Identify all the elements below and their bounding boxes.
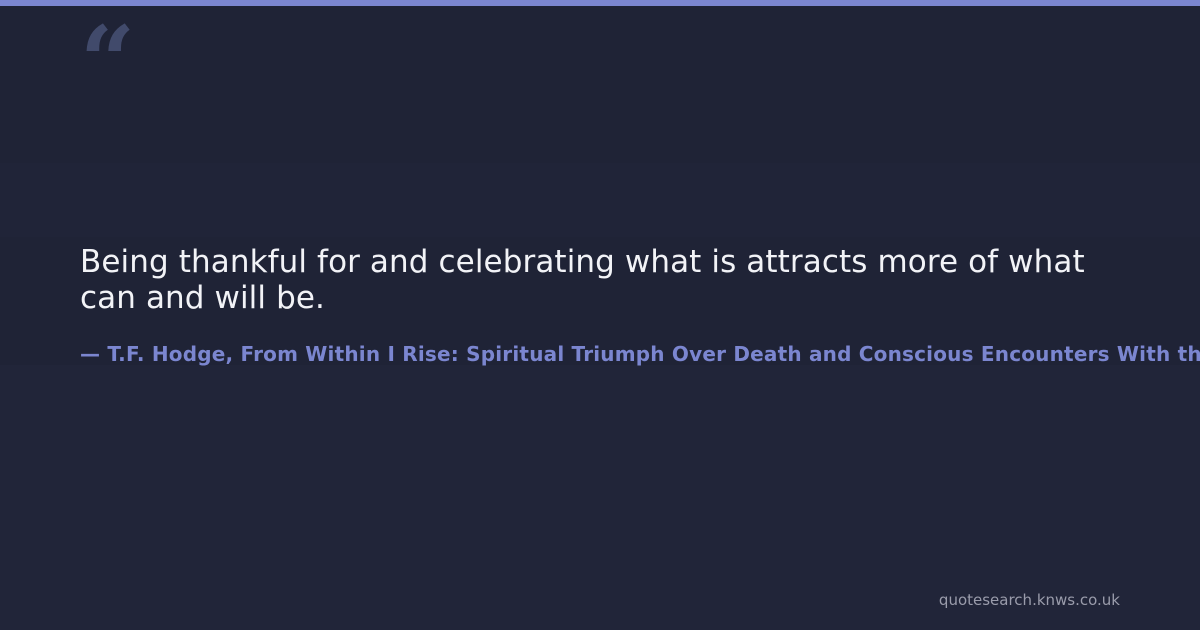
quotation-mark-icon: “ — [80, 14, 135, 110]
site-watermark: quotesearch.knws.co.uk — [939, 590, 1120, 610]
background-band — [0, 163, 1200, 237]
quote-text: Being thankful for and celebrating what … — [80, 244, 1120, 316]
top-accent-bar — [0, 0, 1200, 6]
background-band — [0, 6, 1200, 163]
quote-attribution: — T.F. Hodge, From Within I Rise: Spirit… — [80, 340, 1200, 368]
quote-card: “ Being thankful for and celebrating wha… — [0, 0, 1200, 630]
